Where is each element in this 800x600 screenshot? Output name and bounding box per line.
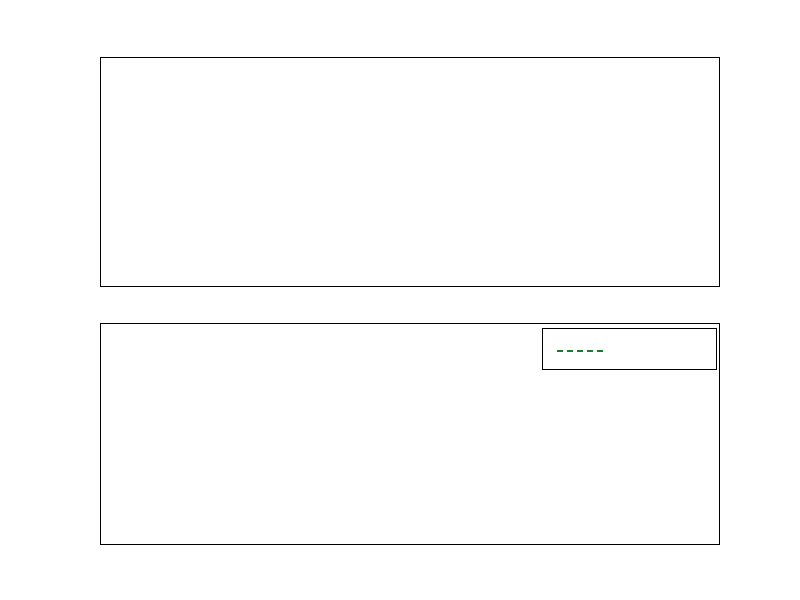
figure-canvas bbox=[0, 0, 800, 600]
legend-box bbox=[542, 328, 717, 370]
legend-line-swatch bbox=[557, 350, 603, 352]
cumulative-curve-layer bbox=[0, 0, 800, 600]
